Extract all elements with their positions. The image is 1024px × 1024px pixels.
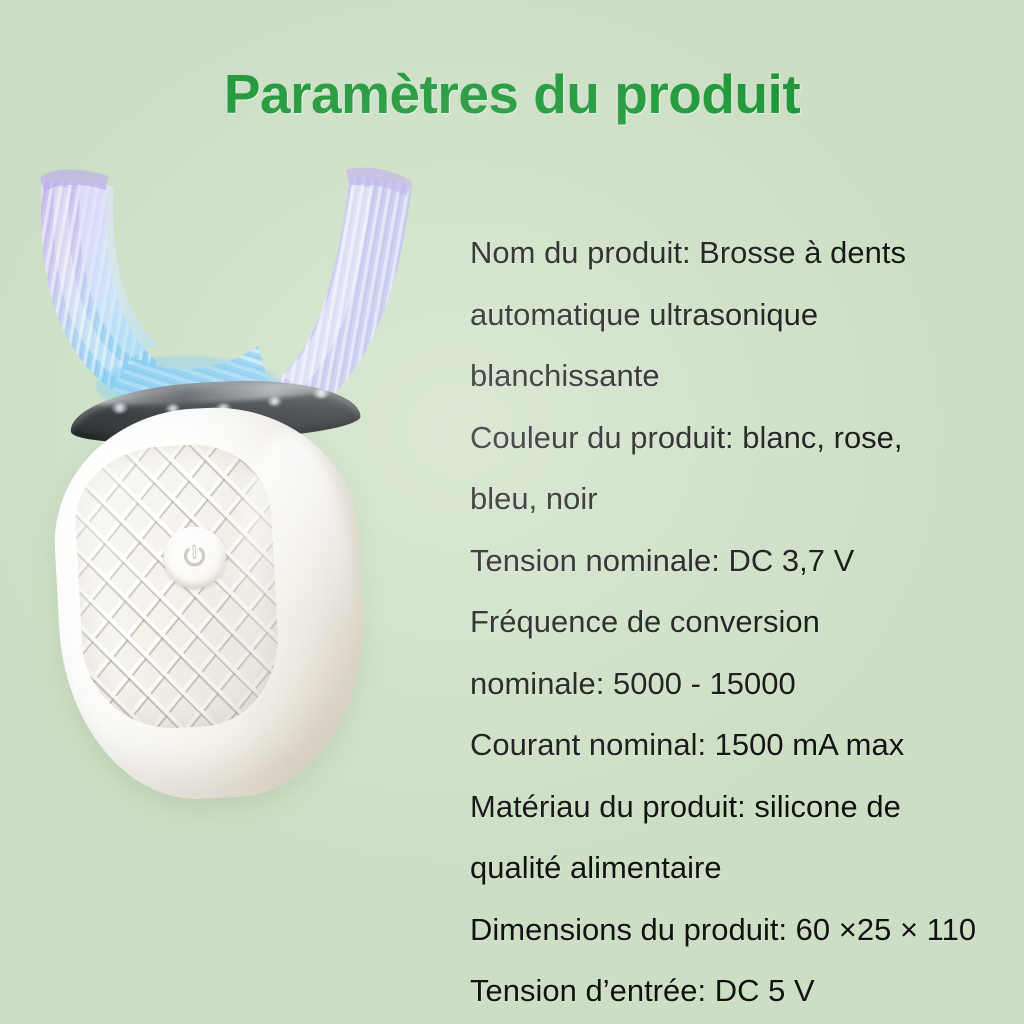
spec-line: Tension d’entrée: DC 5 V bbox=[470, 960, 1024, 1022]
body-highlight bbox=[227, 431, 364, 767]
spec-line: qualité alimentaire bbox=[470, 837, 1024, 899]
spec-line: bleu, noir bbox=[470, 468, 1024, 530]
spec-line: Tension nominale: DC 3,7 V bbox=[470, 530, 1024, 592]
spec-line: nominale: 5000 - 15000 bbox=[470, 653, 1024, 715]
spec-line: Matériau du produit: silicone de bbox=[470, 776, 1024, 838]
product-image bbox=[20, 150, 440, 830]
spec-line: Dimensions du produit: 60 ×25 × 110 bbox=[470, 899, 1024, 961]
power-icon bbox=[179, 542, 211, 574]
spec-line: Nom du produit: Brosse à dents bbox=[470, 222, 1024, 284]
page-title: Paramètres du produit bbox=[0, 62, 1024, 126]
spec-line: Fréquence de conversion bbox=[470, 591, 1024, 653]
spec-line: automatique ultrasonique bbox=[470, 284, 1024, 346]
spec-line: Courant nominal: 1500 mA max bbox=[470, 714, 1024, 776]
spec-line: Couleur du produit: blanc, rose, bbox=[470, 407, 1024, 469]
specification-list: Nom du produit: Brosse à dents automatiq… bbox=[470, 222, 1024, 1022]
led-light bbox=[267, 397, 281, 407]
product-spec-page: Paramètres du produit bbox=[0, 0, 1024, 1024]
led-light bbox=[313, 388, 330, 399]
led-light bbox=[111, 403, 128, 414]
spec-line: blanchissante bbox=[470, 345, 1024, 407]
device-handle bbox=[48, 400, 372, 805]
